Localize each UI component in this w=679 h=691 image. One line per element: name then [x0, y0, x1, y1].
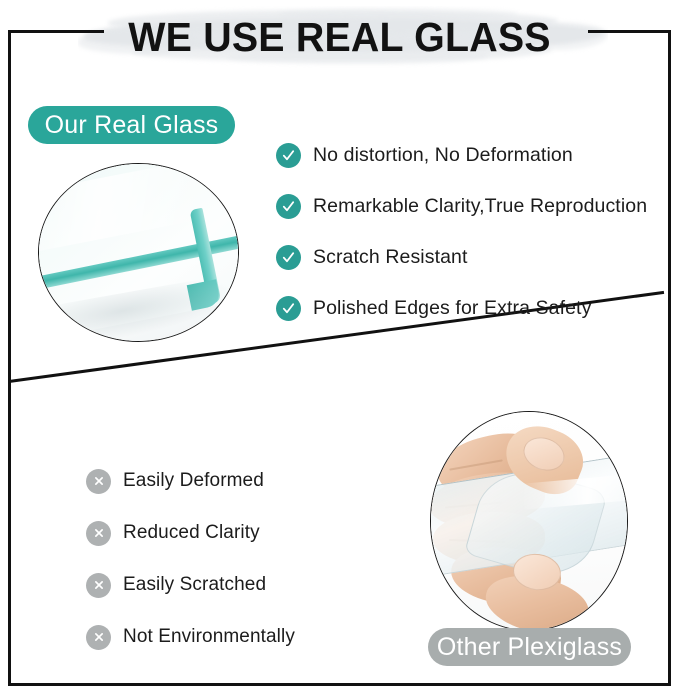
page-title: WE USE REAL GLASS: [14, 14, 666, 61]
badge-other-plexiglass: Other Plexiglass: [428, 628, 631, 666]
pros-feature-list: No distortion, No Deformation Remarkable…: [276, 130, 676, 334]
list-item-label: Easily Deformed: [123, 470, 264, 492]
list-item-label: Easily Scratched: [123, 574, 266, 596]
list-item: Easily Deformed: [86, 455, 446, 507]
list-item-label: Not Environmentally: [123, 626, 295, 648]
list-item: Not Environmentally: [86, 611, 446, 663]
list-item-label: Reduced Clarity: [123, 522, 260, 544]
x-icon: [86, 625, 111, 650]
frame-top-left-segment: [8, 30, 104, 33]
photo-real-glass-corner: [38, 163, 239, 342]
list-item-label: Scratch Resistant: [313, 246, 468, 269]
badge-our-real-glass: Our Real Glass: [28, 106, 235, 144]
infographic-panel: WE USE REAL GLASS Our Real Glass No dist…: [0, 0, 679, 691]
x-icon: [86, 573, 111, 598]
check-icon: [276, 194, 301, 219]
list-item: Polished Edges for Extra Safety: [276, 283, 676, 334]
cons-feature-list: Easily Deformed Reduced Clarity Easily S…: [86, 455, 446, 663]
list-item: Easily Scratched: [86, 559, 446, 611]
x-icon: [86, 521, 111, 546]
list-item-label: Remarkable Clarity,True Reproduction: [313, 195, 647, 218]
photo-plexiglass-in-hand: [430, 411, 628, 631]
check-icon: [276, 245, 301, 270]
frame-right-border: [668, 30, 671, 686]
list-item: No distortion, No Deformation: [276, 130, 676, 181]
check-icon: [276, 296, 301, 321]
list-item: Reduced Clarity: [86, 507, 446, 559]
frame-left-border: [8, 30, 11, 686]
list-item: Scratch Resistant: [276, 232, 676, 283]
frame-bottom-border: [8, 683, 671, 686]
check-icon: [276, 143, 301, 168]
frame-top-right-segment: [588, 30, 671, 33]
list-item-label: Polished Edges for Extra Safety: [313, 297, 591, 320]
list-item: Remarkable Clarity,True Reproduction: [276, 181, 676, 232]
x-icon: [86, 469, 111, 494]
list-item-label: No distortion, No Deformation: [313, 144, 573, 167]
